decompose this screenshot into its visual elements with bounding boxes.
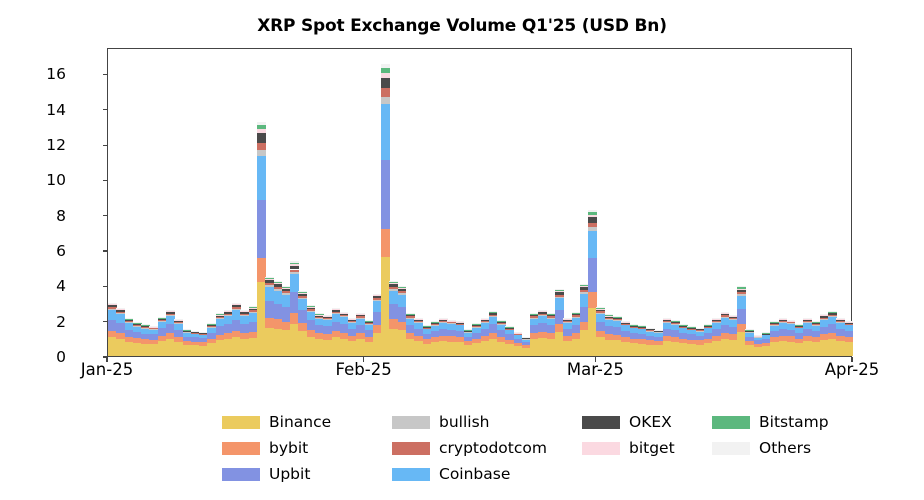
bar-segment-others [737, 286, 746, 287]
bar-segment-bitstamp [596, 308, 605, 309]
bar-segment-okex [497, 322, 506, 323]
bar-segment-others [174, 319, 183, 320]
bar-segment-okex [456, 322, 465, 323]
x-tick-label: Jan-25 [81, 360, 133, 379]
bar-segment-others [274, 281, 283, 282]
legend-label: bitget [629, 439, 675, 457]
bar-segment-bitstamp [356, 313, 365, 314]
bar-segment-cryptodotcom [414, 321, 423, 322]
bar-segment-others [663, 318, 672, 319]
bar-segment-bitstamp [414, 318, 423, 319]
bar-segment-okex [116, 310, 125, 312]
bar-segment-bitstamp [125, 319, 134, 320]
bar-segment-okex [596, 310, 605, 312]
bar-segment-coinbase [588, 231, 597, 258]
bar-segment-okex [398, 289, 407, 291]
bar-segment-others [555, 289, 564, 290]
bar-segment-others [514, 332, 523, 333]
bar-segment-bybit [588, 292, 597, 309]
chart-figure: XRP Spot Exchange Volume Q1'25 (USD Bn) … [0, 0, 924, 500]
bar-segment-coinbase [845, 325, 854, 330]
bar-segment-cryptodotcom [555, 295, 564, 297]
bar-segment-cryptodotcom [340, 315, 349, 316]
legend-item-bybit[interactable]: bybit [222, 439, 392, 457]
bar-segment-bitget [555, 291, 564, 292]
bar-segment-cryptodotcom [497, 323, 506, 324]
bar-segment-others [621, 321, 630, 322]
legend-label: Bitstamp [759, 413, 829, 431]
bar-segment-okex [555, 292, 564, 294]
bar-segment-okex [166, 312, 175, 314]
legend-item-cryptodotcom[interactable]: cryptodotcom [392, 439, 582, 457]
bar-segment-okex [381, 78, 390, 89]
bar-segment-others [298, 291, 307, 292]
bar-segment-upbit [737, 309, 746, 324]
bar-segment-others [497, 320, 506, 321]
bar-segment-cryptodotcom [588, 223, 597, 227]
bar-segment-others [398, 286, 407, 287]
legend-label: Binance [269, 413, 331, 431]
bar-segment-cryptodotcom [745, 331, 754, 332]
x-tick-label: Feb-25 [336, 360, 392, 379]
y-tick-label: 4 [56, 277, 66, 295]
bar-segment-okex [737, 290, 746, 293]
bar-segment-bitstamp [828, 312, 837, 313]
bar-segment-others [232, 303, 241, 304]
bar-segment-bitstamp [116, 308, 125, 309]
bar-segment-cryptodotcom [307, 309, 316, 310]
x-tick-label: Apr-25 [825, 360, 879, 379]
bar-segment-others [679, 324, 688, 325]
y-tick-label: 10 [46, 171, 66, 189]
bar-segment-others [166, 310, 175, 311]
y-tick-label: 8 [56, 207, 66, 225]
bar-segment-cryptodotcom [505, 329, 514, 330]
bar-segment-bitstamp [398, 286, 407, 287]
bar-segment-others [183, 329, 192, 330]
legend-item-upbit[interactable]: Upbit [222, 465, 392, 483]
bar-segment-others [489, 311, 498, 312]
bar-segment-others [116, 308, 125, 309]
x-tick-mark [106, 357, 107, 362]
bar-segment-others [836, 318, 845, 319]
bar-segment-others [721, 312, 730, 313]
bar-segment-others [340, 312, 349, 313]
legend-swatch-icon [582, 442, 620, 455]
legend-swatch-icon [712, 442, 750, 455]
bar-segment-okex [787, 321, 796, 322]
bar-segment-okex [174, 321, 183, 322]
bar-segment-cryptodotcom [356, 316, 365, 317]
bar-segment-bullish [290, 272, 299, 274]
bar-column [845, 321, 854, 356]
legend-swatch-icon [392, 416, 430, 429]
bar-segment-okex [257, 133, 266, 142]
bar-segment-others [290, 261, 299, 262]
bar-segment-upbit [257, 200, 266, 258]
bar-segment-bitget [290, 264, 299, 266]
bar-segment-bullish [489, 316, 498, 317]
bar-segment-bullish [737, 294, 746, 296]
bar-segment-bitget [538, 311, 547, 312]
bar-segment-others [671, 320, 680, 321]
bar-segment-bullish [828, 316, 837, 317]
bar-segment-bitget [332, 309, 341, 310]
legend-label: Coinbase [439, 465, 510, 483]
bar-segment-cryptodotcom [828, 315, 837, 316]
bar-segment-okex [845, 322, 854, 323]
x-tick-mark [595, 357, 596, 362]
bar-segment-others [787, 320, 796, 321]
x-tick-mark [363, 357, 364, 362]
bar-segment-others [538, 310, 547, 311]
bar-segment-bybit [381, 229, 390, 257]
bar-segment-bitget [257, 129, 266, 133]
bar-segment-others [745, 329, 754, 330]
bar-segment-bitstamp [274, 282, 283, 283]
bar-segment-cryptodotcom [290, 270, 299, 273]
bar-segment-bullish [845, 324, 854, 325]
bar-segment-coinbase [555, 298, 564, 310]
bar-segment-bitstamp [663, 318, 672, 319]
bar-segment-coinbase [398, 295, 407, 307]
bar-segment-coinbase [381, 104, 390, 161]
plot-area [107, 48, 852, 357]
bar-segment-others [389, 281, 398, 282]
bar-segment-cryptodotcom [116, 312, 125, 313]
stacked-bars [108, 49, 851, 356]
bar-segment-okex [828, 313, 837, 315]
bar-segment-bitstamp [307, 306, 316, 307]
bar-segment-okex [290, 266, 299, 270]
legend-swatch-icon [222, 442, 260, 455]
bar-segment-okex [125, 320, 134, 321]
bar-segment-cryptodotcom [456, 324, 465, 325]
bar-segment-bullish [381, 97, 390, 104]
bar-segment-coinbase [290, 274, 299, 292]
bar-segment-bullish [588, 227, 597, 230]
legend-item-bitget[interactable]: bitget [582, 439, 712, 457]
legend-item-bullish[interactable]: bullish [392, 413, 582, 431]
bar-segment-bitstamp [555, 290, 564, 291]
legend-swatch-icon [392, 468, 430, 481]
legend-swatch-icon [392, 442, 430, 455]
bar-segment-okex [307, 308, 316, 310]
bar-segment-binance [845, 342, 854, 356]
bar-segment-others [381, 64, 390, 68]
bar-segment-bullish [116, 313, 125, 314]
bar-segment-bitget [232, 304, 241, 305]
bar-segment-cryptodotcom [596, 311, 605, 312]
bar-segment-others [307, 305, 316, 306]
bar-segment-bitstamp [538, 310, 547, 311]
bar-segment-bitget [298, 293, 307, 294]
legend-label: Upbit [269, 465, 310, 483]
bar-segment-bullish [166, 315, 175, 316]
bar-segment-okex [406, 315, 415, 316]
bar-segment-bitget [596, 309, 605, 310]
bar-segment-others [257, 122, 266, 125]
bar-segment-upbit [381, 160, 390, 229]
bar-segment-cryptodotcom [174, 322, 183, 323]
bar-segment-bitstamp [232, 303, 241, 304]
bar-segment-bitstamp [340, 312, 349, 313]
legend-swatch-icon [222, 416, 260, 429]
bar-segment-others [133, 322, 142, 323]
bar-segment-bitstamp [332, 308, 341, 309]
bar-segment-okex [356, 315, 365, 316]
bar-segment-bitstamp [489, 312, 498, 313]
bar-segment-okex [613, 318, 622, 319]
bar-segment-cryptodotcom [845, 324, 854, 325]
y-tick-label: 12 [46, 136, 66, 154]
bar-segment-upbit [588, 258, 597, 292]
bar-segment-bitget [489, 312, 498, 313]
legend-item-binance[interactable]: Binance [222, 413, 392, 431]
bar-segment-okex [588, 217, 597, 223]
bar-segment-others [265, 277, 274, 278]
bar-segment-bitstamp [108, 303, 117, 304]
bar-segment-bullish [356, 318, 365, 319]
bar-segment-bitget [274, 283, 283, 284]
bar-segment-bitget [828, 312, 837, 313]
legend-label: OKEX [629, 413, 672, 431]
bar-segment-bitget [356, 314, 365, 315]
bar-segment-bitget [737, 289, 746, 290]
bar-segment-others [646, 328, 655, 329]
legend-swatch-icon [712, 416, 750, 429]
bar-segment-bitget [389, 283, 398, 284]
bar-segment-bitget [588, 215, 597, 217]
bar-segment-others [779, 318, 788, 319]
bar-segment-bullish [307, 311, 316, 312]
bar-segment-cryptodotcom [257, 143, 266, 150]
bar-segment-bitstamp [381, 68, 390, 73]
bar-segment-bullish [298, 298, 307, 299]
bar-segment-okex [671, 322, 680, 323]
bar-segment-bullish [414, 322, 423, 323]
bar-segment-bitstamp [613, 317, 622, 318]
legend-item-coinbase[interactable]: Coinbase [392, 465, 582, 483]
bar-segment-bitstamp [406, 314, 415, 315]
bar-segment-cryptodotcom [381, 88, 390, 96]
bar-segment-cryptodotcom [298, 296, 307, 298]
y-tick-label: 2 [56, 313, 66, 331]
legend-item-bitstamp[interactable]: Bitstamp [712, 413, 842, 431]
bar-segment-bitstamp [265, 278, 274, 279]
bar-segment-bitget [108, 304, 117, 305]
bar-segment-coinbase [257, 156, 266, 200]
bar-segment-others [845, 321, 854, 322]
bar-segment-others [332, 308, 341, 309]
bar-segment-others [588, 210, 597, 212]
bar-segment-bitstamp [166, 310, 175, 311]
bar-segment-others [356, 313, 365, 314]
x-tick-label: Mar-25 [567, 360, 624, 379]
bar-segment-bitget [381, 73, 390, 78]
bar-segment-bullish [174, 323, 183, 324]
y-tick-label: 0 [56, 348, 66, 366]
bar-segment-coinbase [737, 296, 746, 309]
x-tick-mark [851, 357, 852, 362]
bar-segment-others [414, 318, 423, 319]
bar-segment-bullish [257, 150, 266, 156]
legend-swatch-icon [582, 416, 620, 429]
bar-segment-bitget [116, 309, 125, 310]
bar-segment-bitget [166, 311, 175, 312]
bar-segment-others [108, 303, 117, 304]
bar-segment-others [141, 324, 150, 325]
bar-segment-others [125, 318, 134, 319]
y-tick-label: 16 [46, 65, 66, 83]
bar-segment-others [605, 314, 614, 315]
legend-label: bybit [269, 439, 308, 457]
bar-segment-bitstamp [803, 318, 812, 319]
bar-segment-others [828, 311, 837, 312]
bar-segment-cryptodotcom [489, 315, 498, 316]
bar-segment-cryptodotcom [166, 314, 175, 315]
bar-segment-others [638, 325, 647, 326]
y-tick-label: 14 [46, 101, 66, 119]
bar-segment-bitstamp [257, 125, 266, 130]
bar-segment-bitstamp [836, 318, 845, 319]
bar-segment-okex [745, 331, 754, 332]
bar-segment-okex [414, 320, 423, 321]
bar-segment-cryptodotcom [398, 291, 407, 293]
bar-segment-cryptodotcom [737, 292, 746, 294]
bar-segment-others [803, 318, 812, 319]
bar-segment-okex [232, 305, 241, 307]
bar-segment-bitget [398, 288, 407, 289]
bar-segment-others [439, 318, 448, 319]
bar-segment-others [687, 326, 696, 327]
bar-segment-cryptodotcom [787, 322, 796, 323]
bar-segment-bybit [845, 337, 854, 342]
legend-item-okex[interactable]: OKEX [582, 413, 712, 431]
bar-segment-others [596, 307, 605, 308]
bar-segment-bitget [307, 307, 316, 308]
chart-legend: BinancebullishOKEXBitstampbybitcryptodot… [222, 409, 842, 487]
bar-segment-others [613, 316, 622, 317]
bar-segment-okex [514, 333, 523, 334]
bar-segment-bitstamp [737, 287, 746, 288]
bar-segment-bullish [398, 293, 407, 295]
legend-label: bullish [439, 413, 489, 431]
bar-segment-bullish [456, 324, 465, 325]
bar-segment-bitstamp [290, 263, 299, 265]
bar-segment-bitstamp [721, 312, 730, 313]
page-title: XRP Spot Exchange Volume Q1'25 (USD Bn) [0, 16, 924, 36]
bar-segment-okex [505, 328, 514, 329]
bar-segment-bitstamp [588, 212, 597, 215]
bar-segment-okex [298, 294, 307, 296]
bar-segment-bullish [555, 297, 564, 298]
bar-segment-okex [340, 313, 349, 314]
bar-segment-others [406, 313, 415, 314]
bar-segment-bitstamp [174, 319, 183, 320]
legend-label: Others [759, 439, 811, 457]
bar-segment-bitstamp [298, 292, 307, 293]
legend-item-others[interactable]: Others [712, 439, 842, 457]
bar-segment-bitstamp [389, 282, 398, 283]
legend-label: cryptodotcom [439, 439, 547, 457]
bar-segment-others [505, 326, 514, 327]
bar-segment-others [456, 321, 465, 322]
bar-segment-upbit [845, 331, 854, 337]
bar-segment-okex [489, 313, 498, 315]
bar-segment-cryptodotcom [232, 307, 241, 309]
legend-swatch-icon [222, 468, 260, 481]
bar-segment-bullish [497, 324, 506, 325]
y-tick-label: 6 [56, 242, 66, 260]
